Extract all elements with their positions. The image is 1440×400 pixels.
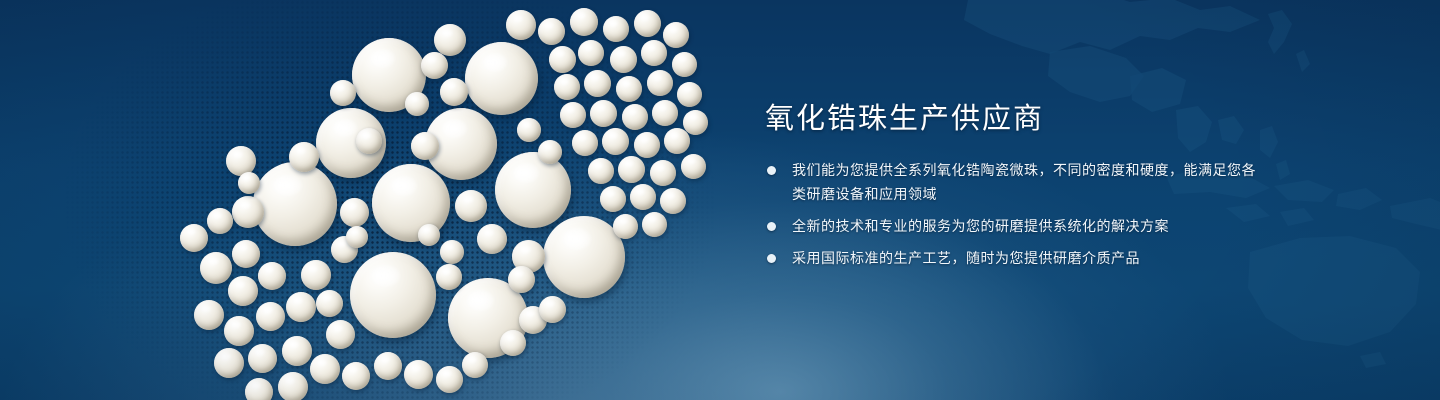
bullet-dot-icon (767, 254, 776, 263)
feature-bullet-list: 我们能为您提供全系列氧化锆陶瓷微珠，不同的密度和硬度，能满足您各类研磨设备和应用… (765, 158, 1265, 270)
list-item-label: 我们能为您提供全系列氧化锆陶瓷微珠，不同的密度和硬度，能满足您各类研磨设备和应用… (792, 158, 1265, 206)
hero-banner: 氧化锆珠生产供应商 我们能为您提供全系列氧化锆陶瓷微珠，不同的密度和硬度，能满足… (0, 0, 1440, 400)
banner-text-panel: 氧化锆珠生产供应商 我们能为您提供全系列氧化锆陶瓷微珠，不同的密度和硬度，能满足… (765, 104, 1265, 270)
page-title: 氧化锆珠生产供应商 (765, 104, 1265, 136)
list-item-label: 全新的技术和专业的服务为您的研磨提供系统化的解决方案 (792, 214, 1265, 238)
list-item-label: 采用国际标准的生产工艺，随时为您提供研磨介质产品 (792, 246, 1265, 270)
list-item: 全新的技术和专业的服务为您的研磨提供系统化的解决方案 (765, 214, 1265, 238)
bullet-dot-icon (767, 166, 776, 175)
list-item: 采用国际标准的生产工艺，随时为您提供研磨介质产品 (765, 246, 1265, 270)
bullet-dot-icon (767, 222, 776, 231)
list-item: 我们能为您提供全系列氧化锆陶瓷微珠，不同的密度和硬度，能满足您各类研磨设备和应用… (765, 158, 1265, 206)
